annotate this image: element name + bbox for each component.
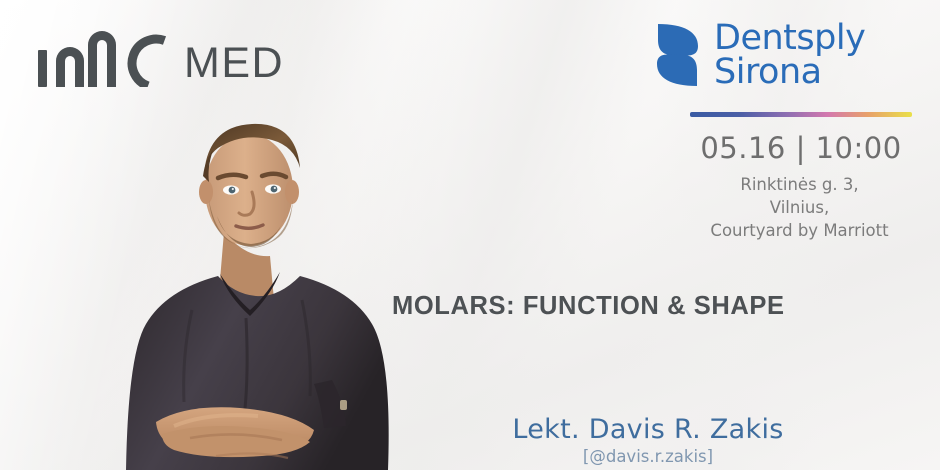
lecturer-portrait	[96, 104, 402, 470]
lecturer-portrait-illustration	[96, 104, 402, 470]
address-line-1: Rinktinės g. 3,	[677, 174, 922, 197]
mo-med-logo: MED	[38, 27, 284, 87]
event-address: Rinktinės g. 3, Vilnius, Courtyard by Ma…	[677, 174, 922, 242]
ds-line-1: Dentsply	[714, 22, 865, 55]
event-poster: MED Dentsply Sirona 05.16 | 10:00 Rinkti…	[0, 0, 940, 470]
address-line-3: Courtyard by Marriott	[677, 220, 922, 243]
event-datetime: 05.16 | 10:00	[690, 131, 912, 165]
speaker-name: Lekt. Davis R. Zakis	[392, 414, 904, 445]
dentsply-sirona-logo: Dentsply Sirona	[654, 22, 912, 88]
mo-logo-mark	[38, 27, 170, 87]
mo-logo-glyph	[38, 27, 170, 87]
speaker-block: Lekt. Davis R. Zakis [@davis.r.zakis]	[392, 414, 904, 466]
dentsply-sirona-wordmark: Dentsply Sirona	[714, 22, 865, 88]
gradient-divider	[690, 112, 912, 117]
dentsply-sirona-s-mark	[654, 22, 701, 88]
logo-wordmark: MED	[184, 42, 284, 87]
speaker-handle: [@davis.r.zakis]	[392, 447, 904, 466]
address-line-2: Vilnius,	[677, 197, 922, 220]
s-leaf-glyph	[654, 22, 701, 88]
event-title: MOLARS: FUNCTION & SHAPE	[392, 292, 785, 321]
ds-line-2: Sirona	[714, 56, 865, 89]
